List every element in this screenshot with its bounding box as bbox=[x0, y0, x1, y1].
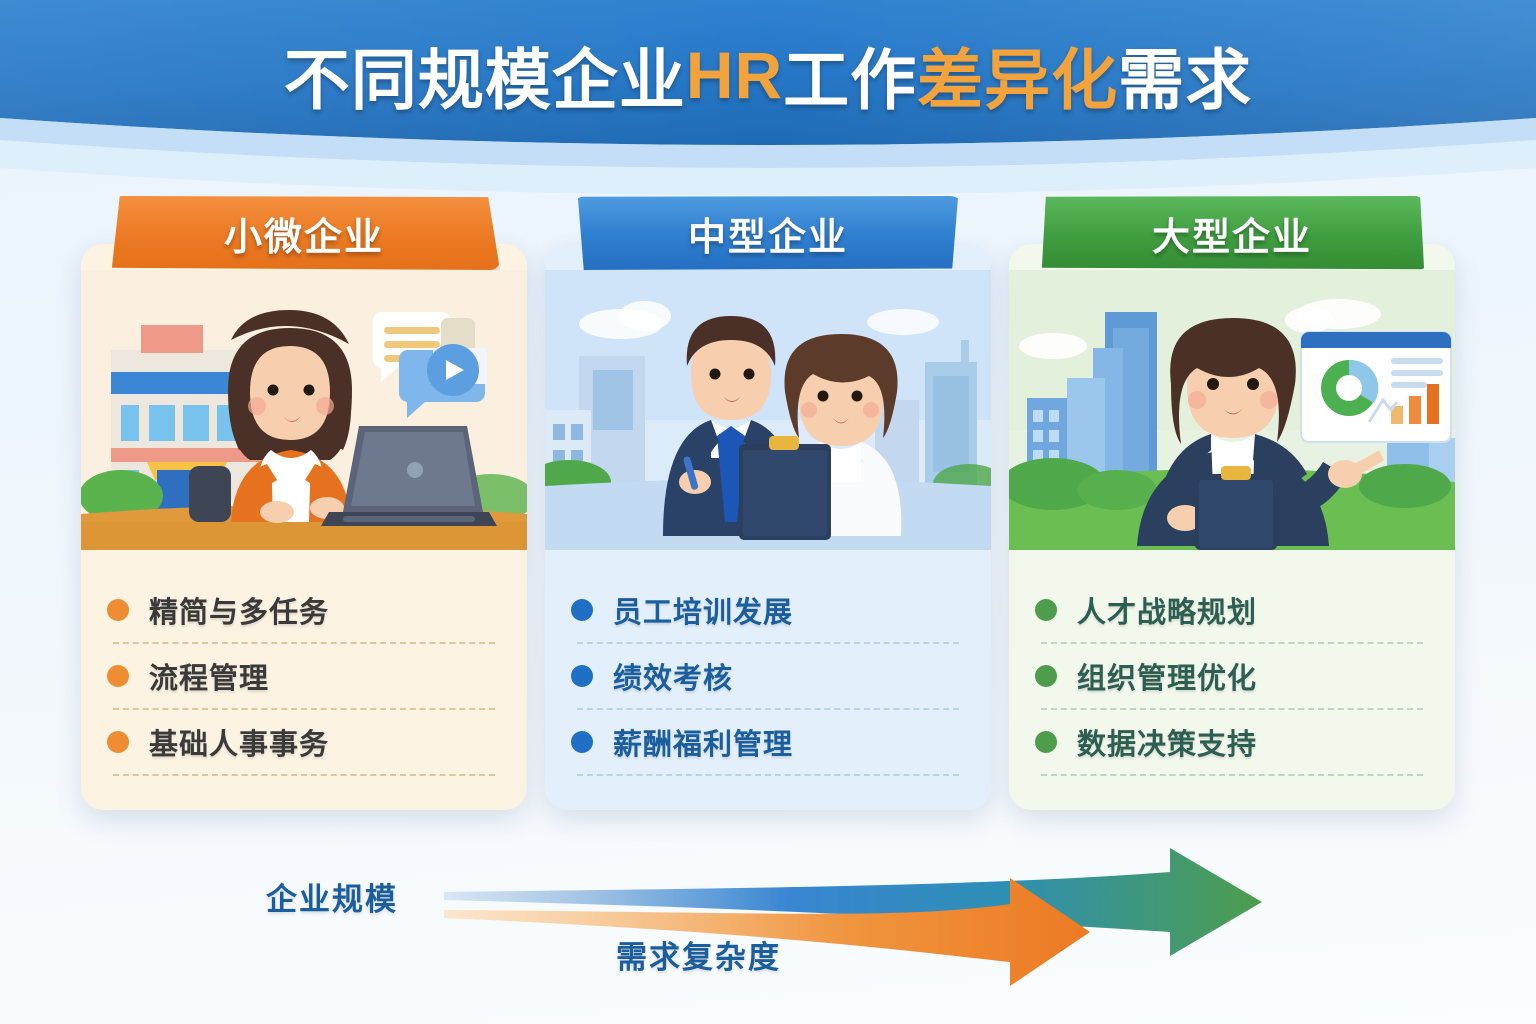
bullet-dot-icon bbox=[1035, 731, 1057, 753]
bullet-text: 员工培训发展 bbox=[613, 589, 793, 631]
illustration-small-business-woman-laptop-icon bbox=[81, 270, 527, 550]
title-part-1: 不同规模企业 bbox=[284, 27, 686, 123]
card-tab-medium[interactable]: 中型企业 bbox=[572, 196, 964, 270]
page-title: 不同规模企业 HR 工作 差异化 需求 bbox=[0, 0, 1536, 150]
list-item[interactable]: 流程管理 bbox=[107, 646, 501, 706]
bullet-text: 绩效考核 bbox=[613, 655, 733, 697]
enterprise-cards-row: 小微企业 bbox=[0, 196, 1536, 846]
bullet-list-large: 人才战略规划 组织管理优化 数据决策支持 bbox=[1009, 550, 1455, 810]
header-banner: 不同规模企业 HR 工作 差异化 需求 bbox=[0, 0, 1536, 210]
bullet-text: 组织管理优化 bbox=[1077, 655, 1257, 697]
bullet-dot-icon bbox=[107, 731, 129, 753]
bullet-dot-icon bbox=[107, 665, 129, 687]
card-tab-small[interactable]: 小微企业 bbox=[108, 196, 500, 270]
list-divider bbox=[1041, 774, 1423, 776]
bullet-dot-icon bbox=[107, 599, 129, 621]
bullet-text: 人才战略规划 bbox=[1077, 589, 1257, 631]
arrow-label-demand-complexity: 需求复杂度 bbox=[616, 932, 781, 977]
list-item[interactable]: 数据决策支持 bbox=[1035, 712, 1429, 772]
bullet-text: 薪酬福利管理 bbox=[613, 721, 793, 763]
bullet-list-medium: 员工培训发展 绩效考核 薪酬福利管理 bbox=[545, 550, 991, 810]
illustration-two-professionals-clipboard-icon bbox=[545, 270, 991, 550]
title-part-2: HR bbox=[686, 37, 783, 113]
list-divider bbox=[577, 774, 959, 776]
card-small-enterprise[interactable]: 小微企业 bbox=[81, 196, 527, 810]
list-divider bbox=[113, 774, 495, 776]
card-tab-label-large: 大型企业 bbox=[1152, 206, 1312, 261]
list-item[interactable]: 员工培训发展 bbox=[571, 580, 965, 640]
bullet-dot-icon bbox=[1035, 599, 1057, 621]
list-item[interactable]: 绩效考核 bbox=[571, 646, 965, 706]
list-item[interactable]: 薪酬福利管理 bbox=[571, 712, 965, 772]
list-divider bbox=[113, 642, 495, 644]
card-large-enterprise[interactable]: 大型企业 bbox=[1009, 196, 1455, 810]
bullet-dot-icon bbox=[1035, 665, 1057, 687]
title-part-3: 工作 bbox=[783, 27, 917, 123]
list-divider bbox=[1041, 708, 1423, 710]
bullet-text: 流程管理 bbox=[149, 655, 269, 697]
list-divider bbox=[113, 708, 495, 710]
bullet-dot-icon bbox=[571, 599, 593, 621]
list-item[interactable]: 精简与多任务 bbox=[107, 580, 501, 640]
bullet-dot-icon bbox=[571, 731, 593, 753]
progression-arrows: 企业规模 需求复杂度 bbox=[0, 846, 1536, 1024]
card-tab-label-medium: 中型企业 bbox=[688, 206, 848, 261]
list-divider bbox=[577, 708, 959, 710]
list-item[interactable]: 人才战略规划 bbox=[1035, 580, 1429, 640]
arrow-label-enterprise-scale: 企业规模 bbox=[266, 874, 398, 919]
card-tab-label-small: 小微企业 bbox=[224, 206, 384, 261]
card-tab-large[interactable]: 大型企业 bbox=[1036, 196, 1428, 270]
illustration-businesswoman-dashboard-icon bbox=[1009, 270, 1455, 550]
title-part-5: 需求 bbox=[1118, 27, 1252, 123]
list-divider bbox=[1041, 642, 1423, 644]
card-medium-enterprise[interactable]: 中型企业 bbox=[545, 196, 991, 810]
bullet-list-small: 精简与多任务 流程管理 基础人事事务 bbox=[81, 550, 527, 810]
list-item[interactable]: 基础人事事务 bbox=[107, 712, 501, 772]
title-part-4: 差异化 bbox=[917, 27, 1118, 123]
bullet-text: 精简与多任务 bbox=[149, 589, 329, 631]
list-divider bbox=[577, 642, 959, 644]
bullet-text: 基础人事事务 bbox=[149, 721, 329, 763]
bullet-text: 数据决策支持 bbox=[1077, 721, 1257, 763]
bullet-dot-icon bbox=[571, 665, 593, 687]
list-item[interactable]: 组织管理优化 bbox=[1035, 646, 1429, 706]
